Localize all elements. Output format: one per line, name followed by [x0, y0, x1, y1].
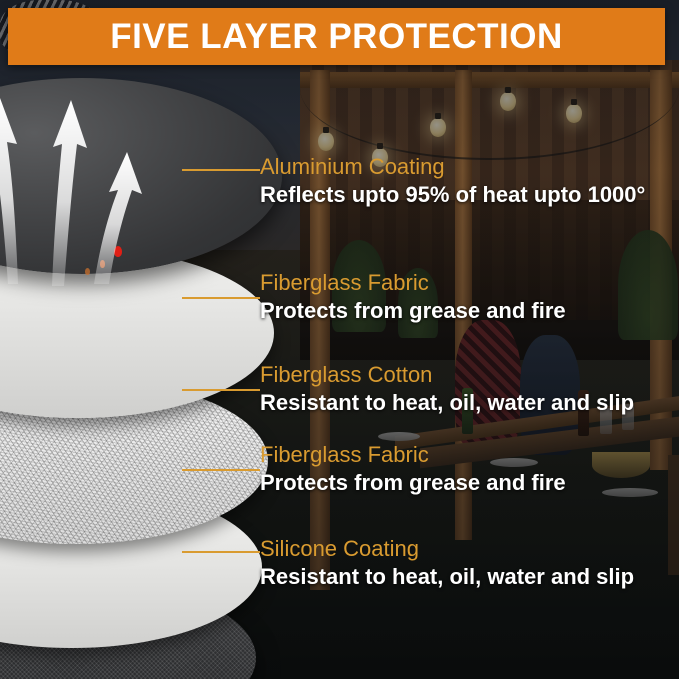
layer-title: Fiberglass Fabric — [260, 442, 429, 468]
leader-line — [182, 297, 260, 299]
layer-description: Resistant to heat, oil, water and slip — [260, 564, 634, 590]
leader-line — [182, 469, 260, 471]
layer-title: Aluminium Coating — [260, 154, 445, 180]
page-title: FIVE LAYER PROTECTION — [110, 17, 563, 57]
layer-title: Silicone Coating — [260, 536, 419, 562]
leader-line — [182, 551, 260, 553]
layer-title: Fiberglass Fabric — [260, 270, 429, 296]
infographic-stage: FIVE LAYER PROTECTION Aluminium Coating … — [0, 0, 679, 679]
layer-stack-illustration — [0, 78, 302, 658]
layer-description: Protects from grease and fire — [260, 298, 566, 324]
layer-description: Reflects upto 95% of heat upto 1000° — [260, 182, 645, 208]
header-banner: FIVE LAYER PROTECTION — [8, 8, 665, 65]
leader-line — [182, 389, 260, 391]
layer-description: Protects from grease and fire — [260, 470, 566, 496]
heat-reflection-arrows — [0, 70, 182, 300]
layer-description: Resistant to heat, oil, water and slip — [260, 390, 634, 416]
leader-line — [182, 169, 260, 171]
layer-title: Fiberglass Cotton — [260, 362, 432, 388]
